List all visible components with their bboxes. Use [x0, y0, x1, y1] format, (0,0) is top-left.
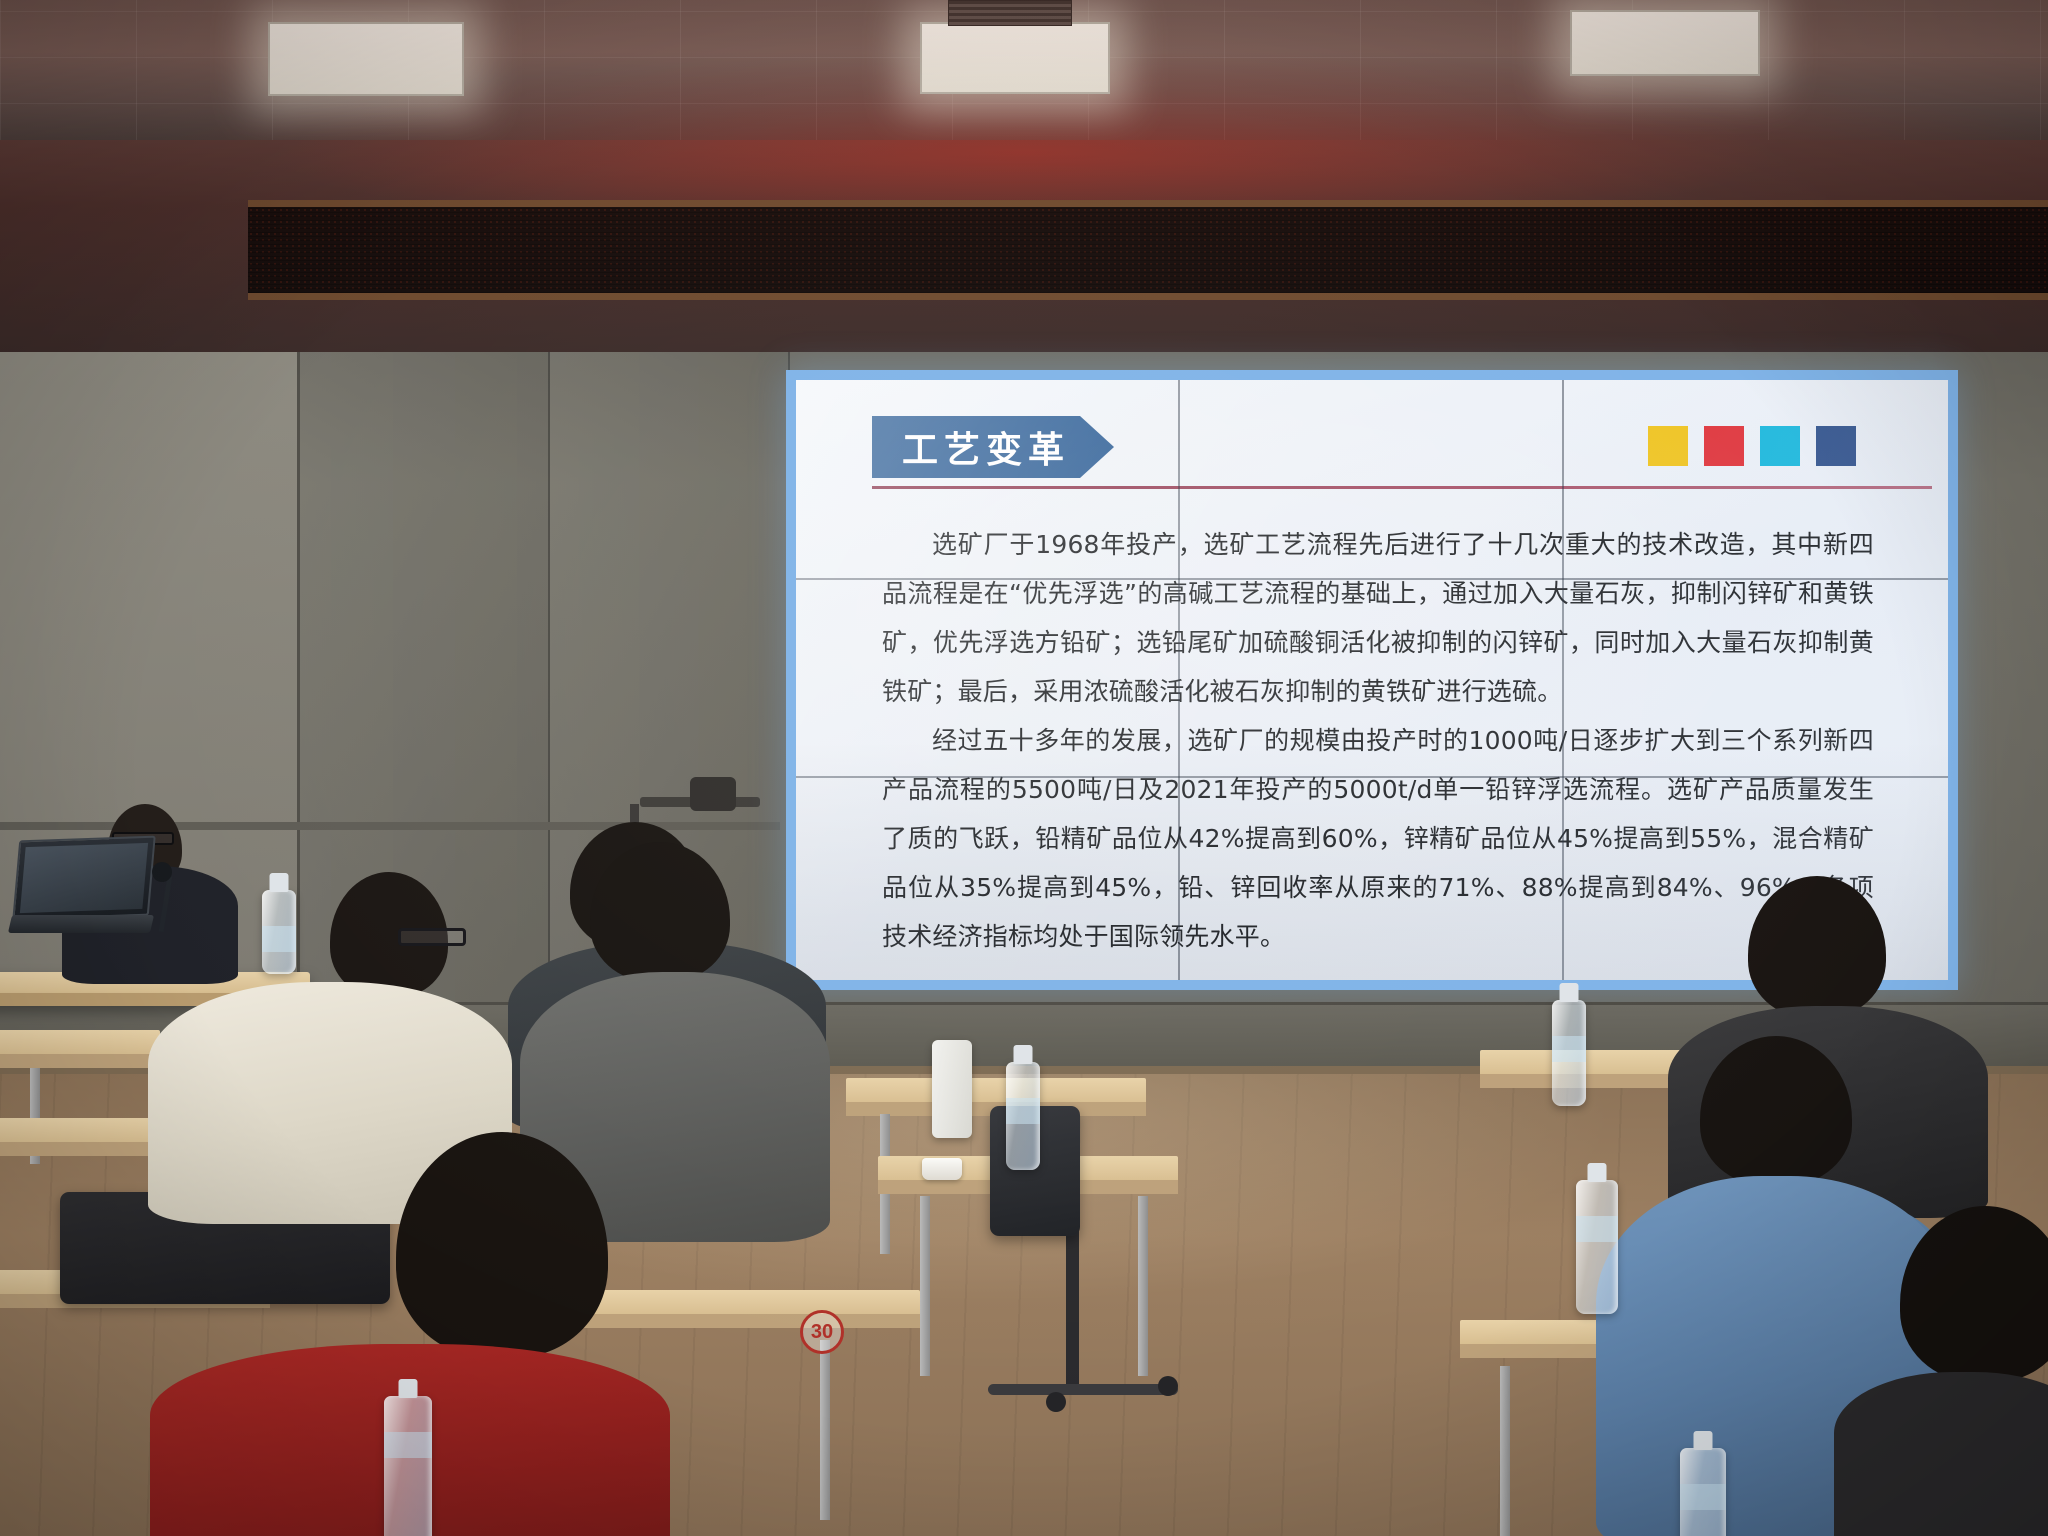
slide-title-underline [872, 486, 1932, 489]
table-top [560, 1290, 920, 1316]
bottle-label [262, 926, 296, 952]
presenter-laptop-base[interactable] [8, 915, 154, 933]
bottle-cap [270, 873, 289, 892]
bottle-label [1006, 1098, 1040, 1124]
ceiling-light [920, 22, 1110, 94]
water-bottle[interactable] [1006, 1062, 1040, 1170]
person-torso [1834, 1372, 2048, 1536]
chair-post [1066, 1210, 1079, 1386]
swatch-yellow [1648, 426, 1688, 466]
table-leg [1500, 1366, 1510, 1536]
ceiling-vent [948, 0, 1072, 26]
video-wall-display[interactable]: 工艺变革 选矿厂于1968年投产，选矿工艺流程先后进行了十几次重大的技术改造，其… [796, 380, 1948, 980]
paper-cup[interactable] [922, 1158, 962, 1180]
water-bottle[interactable] [1680, 1448, 1726, 1536]
slide-body-copy: 选矿厂于1968年投产，选矿工艺流程先后进行了十几次重大的技术改造，其中新四品流… [882, 520, 1874, 961]
wall-camera-head [690, 777, 736, 811]
bottle-cap [1588, 1163, 1607, 1182]
water-bottle[interactable] [384, 1396, 432, 1536]
ceiling-light [1570, 10, 1760, 76]
presenter-laptop-lid[interactable] [12, 836, 156, 921]
water-bottle[interactable] [1552, 1000, 1586, 1106]
table-number-label: 30 [811, 1321, 833, 1344]
laptop-screen[interactable] [20, 843, 148, 913]
audience-table [560, 1290, 920, 1340]
water-bottle[interactable] [262, 890, 296, 974]
table-top [846, 1078, 1146, 1104]
swatch-blue [1816, 426, 1856, 466]
person-glasses [398, 928, 466, 946]
table-top [0, 1030, 160, 1056]
slide-content: 工艺变革 选矿厂于1968年投产，选矿工艺流程先后进行了十几次重大的技术改造，其… [796, 380, 1948, 980]
bottle-cap [399, 1379, 418, 1398]
swatch-cyan [1760, 426, 1800, 466]
bottle-cap [1014, 1045, 1033, 1064]
ceiling [0, 0, 2048, 150]
audience-table [0, 1030, 160, 1070]
bottle-cap [1694, 1431, 1713, 1450]
slide-color-swatches [1648, 426, 1856, 466]
chair-base [988, 1384, 1178, 1395]
bottle-cap [1560, 983, 1579, 1002]
table-apron [0, 1054, 160, 1068]
bottle-label [1552, 1036, 1586, 1062]
slide-title-text: 工艺变革 [902, 421, 1070, 473]
thermos-tumbler[interactable] [932, 1040, 972, 1138]
microphone-head [152, 862, 172, 882]
chair-caster [1046, 1392, 1066, 1412]
bottle-label [1576, 1216, 1618, 1242]
bottle-label [384, 1432, 432, 1458]
slide-paragraph-2: 经过五十多年的发展，选矿厂的规模由投产时的1000吨/日逐步扩大到三个系列新四产… [882, 716, 1874, 961]
video-wall-seam-horizontal [796, 776, 1948, 778]
slide-paragraph-1: 选矿厂于1968年投产，选矿工艺流程先后进行了十几次重大的技术改造，其中新四品流… [882, 520, 1874, 716]
table-leg [820, 1340, 830, 1520]
water-bottle[interactable] [1576, 1180, 1618, 1314]
led-scrolling-banner [248, 200, 2048, 300]
video-wall-seam-vertical [1562, 380, 1564, 980]
table-leg [920, 1196, 930, 1376]
swatch-red [1704, 426, 1744, 466]
chair-caster [1158, 1376, 1178, 1396]
bottle-label [1680, 1484, 1726, 1510]
video-wall-seam-horizontal [796, 578, 1948, 580]
led-banner-text [288, 213, 2048, 300]
slide-title-banner: 工艺变革 [872, 416, 1114, 478]
ceiling-light [268, 22, 464, 96]
video-wall-seam-vertical [1178, 380, 1180, 980]
table-leg [1138, 1196, 1148, 1376]
table-number-marker: 30 [800, 1310, 844, 1354]
table-apron [560, 1314, 920, 1328]
conference-room-scene: 工艺变革 选矿厂于1968年投产，选矿工艺流程先后进行了十几次重大的技术改造，其… [0, 0, 2048, 1536]
